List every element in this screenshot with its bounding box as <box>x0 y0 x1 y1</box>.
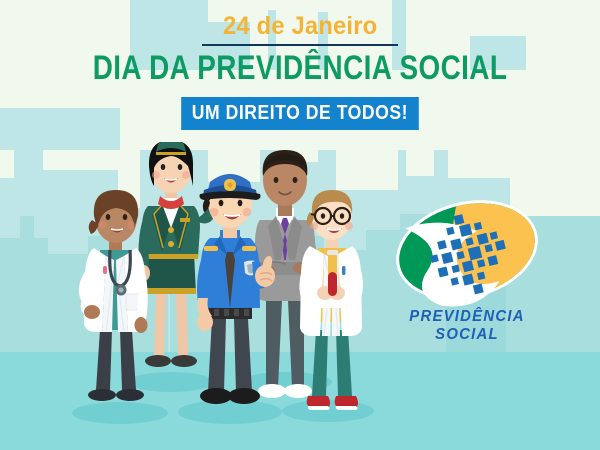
previdencia-social-logo: PREVIDÊNCIA SOCIAL <box>372 196 562 336</box>
poster-canvas: 24 de Janeiro DIA DA PREVIDÊNCIA SOCIAL … <box>0 0 600 450</box>
character-police-officer <box>170 170 290 430</box>
character-female-doctor <box>62 190 172 430</box>
logo-mark <box>372 196 562 308</box>
logo-wordmark: PREVIDÊNCIA SOCIAL <box>376 308 558 344</box>
